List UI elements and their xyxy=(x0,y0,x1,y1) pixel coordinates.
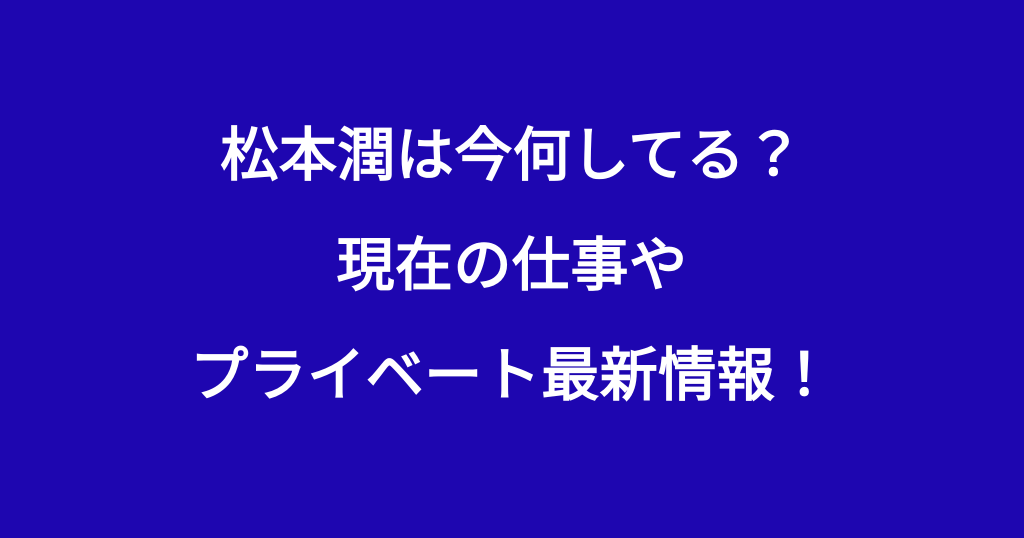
thumbnail-card: 松本潤は今何してる？ 現在の仕事や プライベート最新情報！ xyxy=(0,0,1024,538)
headline-line-3: プライベート最新情報！ xyxy=(0,320,1024,430)
headline-block: 松本潤は今何してる？ 現在の仕事や プライベート最新情報！ xyxy=(0,100,1024,438)
headline-line-1: 松本潤は今何してる？ xyxy=(0,100,1024,210)
headline-line-2: 現在の仕事や xyxy=(0,210,1024,320)
